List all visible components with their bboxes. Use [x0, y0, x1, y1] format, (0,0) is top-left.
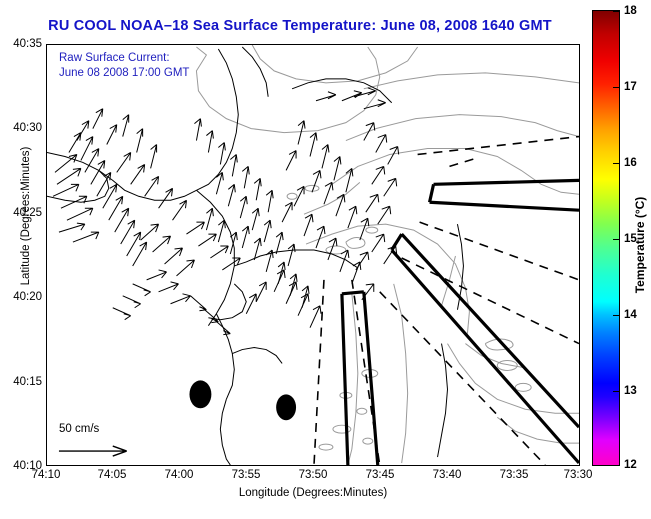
station-marker-2 [276, 394, 296, 420]
cb-tick-12: 12 [624, 459, 637, 471]
station-marker-1 [189, 380, 211, 408]
cb-tick-13: 13 [624, 385, 637, 397]
x-axis-label: Longitude (Degrees:Minutes) [46, 487, 580, 499]
colorbar-label: Temperature (°C) [633, 165, 647, 325]
sst-map-figure: RU COOL NOAA–18 Sea Surface Temperature:… [0, 0, 651, 519]
y-tick-5: 40:10 [13, 460, 42, 472]
map-plot-area: Raw Surface Current: June 08 2008 17:00 … [46, 44, 580, 466]
scale-arrow-label: 50 cm/s [59, 423, 99, 435]
shipping-lanes [342, 180, 579, 465]
y-tick-0: 40:35 [13, 38, 42, 50]
small-islands [287, 185, 531, 450]
cb-tick-17: 17 [624, 81, 637, 93]
scale-arrow [59, 446, 127, 456]
x-tick-6: 73:40 [433, 469, 462, 481]
y-axis-label: Latitude (Degrees:Minutes) [20, 96, 32, 336]
x-tick-1: 74:05 [98, 469, 127, 481]
x-tick-2: 74:00 [165, 469, 194, 481]
x-tick-8: 73:30 [564, 469, 593, 481]
x-tick-7: 73:35 [500, 469, 529, 481]
cb-tick-18: 18 [624, 5, 637, 17]
x-tick-4: 73:50 [299, 469, 328, 481]
y-tick-4: 40:15 [13, 376, 42, 388]
bathymetry-contours [196, 45, 579, 465]
map-graphics [47, 45, 579, 465]
surface-current-vectors [53, 88, 399, 335]
figure-title: RU COOL NOAA–18 Sea Surface Temperature:… [0, 18, 600, 34]
temperature-colorbar [592, 10, 620, 466]
station-markers [189, 380, 296, 420]
x-tick-5: 73:45 [366, 469, 395, 481]
x-tick-3: 73:55 [232, 469, 261, 481]
